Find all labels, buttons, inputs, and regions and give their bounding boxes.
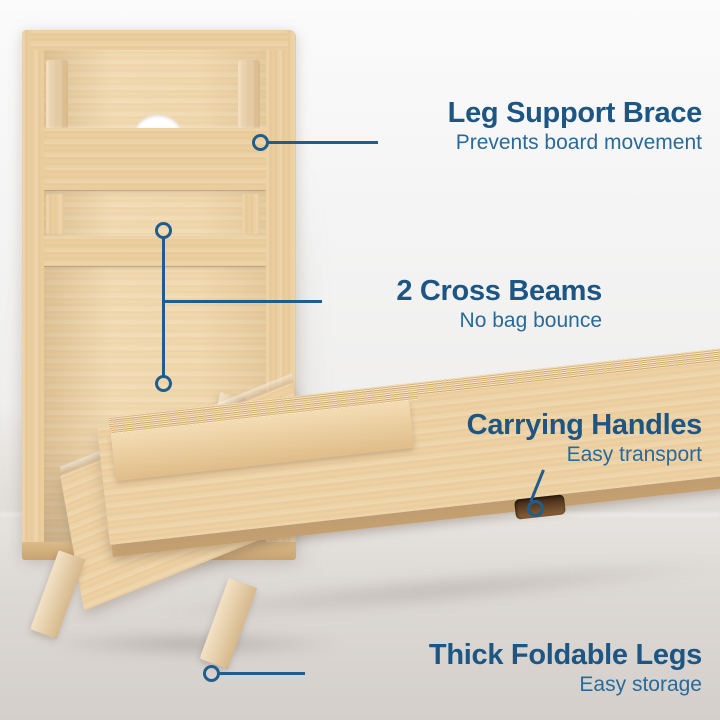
legs-ground-shadow: [50, 630, 340, 658]
standing-board-rail-left: [22, 30, 44, 558]
beam-gap-line-lower: [44, 266, 266, 268]
callout-leader-thick-foldable-legs: [219, 672, 305, 675]
cross-beam-upper: [44, 128, 266, 190]
callout-marker-leg-support-brace: [252, 134, 269, 151]
callout-subtitle-cross-beams: No bag bounce: [270, 309, 602, 333]
callout-subtitle-leg-support-brace: Prevents board movement: [320, 131, 702, 155]
beam-support-block-right: [242, 194, 260, 234]
cross-beam-lower: [44, 236, 266, 266]
callout-subtitle-thick-foldable-legs: Easy storage: [300, 673, 702, 697]
callout-title-thick-foldable-legs: Thick Foldable Legs: [300, 640, 702, 670]
callout-marker-carrying-handles: [527, 500, 544, 517]
standing-board-rail-top: [30, 30, 288, 50]
callout-bracket-cross-beams: [162, 238, 165, 377]
callout-marker-cross-beam-lower: [155, 375, 172, 392]
leg-support-brace-left: [46, 60, 68, 128]
product-infographic: Leg Support Brace Prevents board movemen…: [0, 0, 720, 720]
callout-marker-thick-foldable-legs: [203, 665, 220, 682]
callout-marker-cross-beam-upper: [155, 222, 172, 239]
beam-support-block-left: [46, 194, 64, 234]
callout-title-carrying-handles: Carrying Handles: [330, 410, 702, 440]
leg-support-brace-right: [238, 60, 260, 128]
callout-subtitle-carrying-handles: Easy transport: [330, 443, 702, 467]
callout-title-leg-support-brace: Leg Support Brace: [320, 98, 702, 128]
beam-gap-line-upper: [44, 190, 266, 192]
callout-title-cross-beams: 2 Cross Beams: [270, 276, 602, 306]
